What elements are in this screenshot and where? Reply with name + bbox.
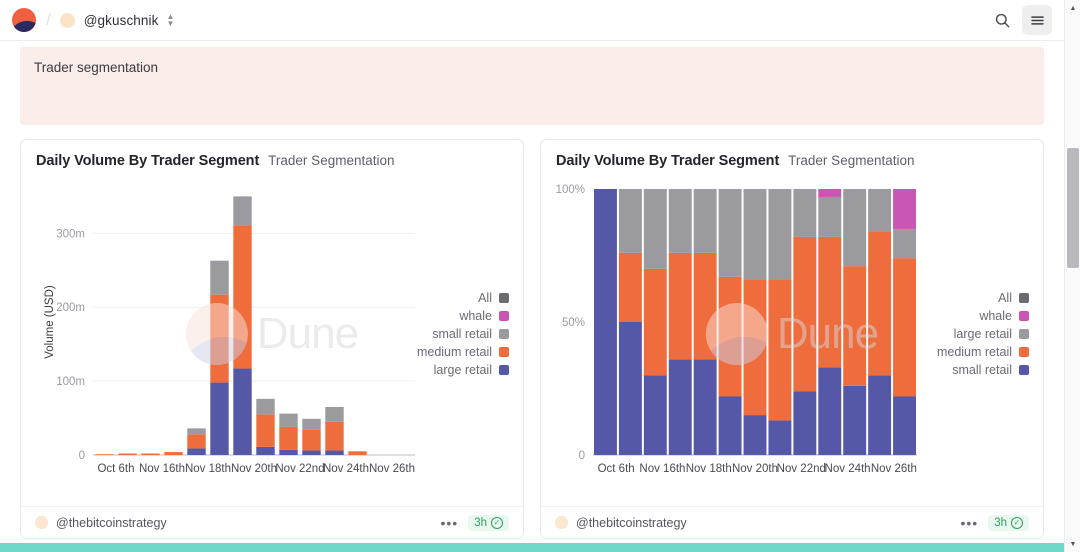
- author-avatar: [555, 516, 568, 529]
- plot-area-right[interactable]: Dune 050%100%Oct 6thNov 16thNov 18thNov …: [541, 175, 1043, 493]
- legend-label: small retail: [952, 363, 1012, 377]
- search-icon[interactable]: [987, 5, 1017, 35]
- chart-card-volume-absolute: Daily Volume By Trader Segment Trader Se…: [20, 139, 524, 539]
- legend-swatch: [1019, 347, 1029, 357]
- bar-segment[interactable]: [619, 253, 642, 322]
- author-handle[interactable]: @thebitcoinstrategy: [56, 516, 167, 530]
- y-axis-tick-label: 0: [579, 450, 585, 462]
- ellipsis-icon[interactable]: •••: [960, 519, 978, 527]
- dashboard-banner: Trader segmentation: [20, 47, 1044, 125]
- top-navigation-bar: / @gkuschnik ▲▼: [0, 0, 1064, 41]
- bottom-accent-strip: [0, 543, 1064, 552]
- bar-segment[interactable]: [325, 422, 343, 451]
- legend-swatch: [1019, 293, 1029, 303]
- bar-segment[interactable]: [348, 451, 366, 455]
- legend-swatch: [499, 293, 509, 303]
- bar-segment[interactable]: [768, 420, 791, 455]
- bar-segment[interactable]: [793, 391, 816, 455]
- legend-label: large retail: [954, 327, 1012, 341]
- bar-segment[interactable]: [744, 415, 767, 455]
- bar-segment[interactable]: [669, 189, 692, 253]
- legend-item[interactable]: All: [998, 291, 1029, 305]
- bar-segment[interactable]: [325, 451, 343, 455]
- legend-label: large retail: [434, 363, 492, 377]
- scroll-down-arrow[interactable]: ▼: [1065, 536, 1080, 552]
- chevron-up-down-icon[interactable]: ▲▼: [166, 14, 174, 27]
- legend-item[interactable]: small retail: [432, 327, 509, 341]
- bar-segment[interactable]: [302, 430, 320, 451]
- card-subtitle: Trader Segmentation: [268, 153, 394, 168]
- legend-label: All: [478, 291, 492, 305]
- bar-segment[interactable]: [694, 359, 717, 455]
- legend-item[interactable]: medium retail: [937, 345, 1029, 359]
- bar-segment[interactable]: [210, 295, 228, 383]
- bar-segment[interactable]: [141, 454, 159, 455]
- bar-segment[interactable]: [279, 427, 297, 450]
- bar-segment[interactable]: [164, 452, 182, 455]
- bar-segment[interactable]: [233, 196, 251, 225]
- legend-item[interactable]: All: [478, 291, 509, 305]
- plot-area-left[interactable]: Dune 0100m200m300mVolume (USD)Oct 6thNov…: [21, 175, 523, 493]
- legend-item[interactable]: whale: [979, 309, 1029, 323]
- card-title: Daily Volume By Trader Segment: [36, 153, 259, 169]
- app-root: / @gkuschnik ▲▼ Trader segmentation Dail…: [0, 0, 1080, 552]
- x-axis-tick-label: Nov 26th: [369, 463, 415, 475]
- bar-segment[interactable]: [843, 189, 866, 266]
- legend-swatch: [499, 365, 509, 375]
- bar-segment[interactable]: [868, 375, 891, 455]
- card-header: Daily Volume By Trader Segment Trader Se…: [21, 140, 523, 175]
- bar-segment[interactable]: [719, 396, 742, 455]
- bar-segment[interactable]: [818, 189, 841, 197]
- bar-segment[interactable]: [893, 258, 916, 396]
- legend-label: whale: [459, 309, 492, 323]
- hamburger-menu-icon[interactable]: [1022, 5, 1052, 35]
- bar-segment[interactable]: [95, 454, 113, 455]
- page-scrollbar[interactable]: ▲ ▼: [1064, 0, 1080, 552]
- bar-segment[interactable]: [793, 189, 816, 237]
- legend-label: small retail: [432, 327, 492, 341]
- y-axis-tick-label: 300m: [56, 228, 85, 240]
- y-axis-tick-label: 200m: [56, 302, 85, 314]
- bar-segment[interactable]: [669, 253, 692, 359]
- legend-item[interactable]: large retail: [434, 363, 509, 377]
- bar-segment[interactable]: [719, 277, 742, 397]
- bar-segment[interactable]: [694, 189, 717, 253]
- bar-segment[interactable]: [325, 407, 343, 422]
- bar-segment[interactable]: [818, 367, 841, 455]
- bar-segment[interactable]: [256, 399, 274, 415]
- card-footer: @thebitcoinstrategy ••• 3h ✓: [21, 506, 523, 538]
- y-axis-title: Volume (USD): [44, 285, 56, 359]
- x-axis-tick-label: Nov 24th: [323, 463, 369, 475]
- x-axis-tick-label: Nov 26th: [871, 463, 917, 475]
- workspace-avatar: [60, 13, 75, 28]
- card-header: Daily Volume By Trader Segment Trader Se…: [541, 140, 1043, 175]
- bar-segment[interactable]: [768, 279, 791, 420]
- legend-item[interactable]: small retail: [952, 363, 1029, 377]
- chart-legend-left[interactable]: Allwhalesmall retailmedium retaillarge r…: [417, 291, 509, 377]
- x-axis-tick-label: Nov 18th: [686, 463, 732, 475]
- workspace-name[interactable]: @gkuschnik: [84, 13, 159, 28]
- bar-segment[interactable]: [793, 237, 816, 391]
- bar-segment[interactable]: [644, 269, 667, 375]
- card-footer: @thebitcoinstrategy ••• 3h ✓: [541, 506, 1043, 538]
- bar-segment[interactable]: [302, 419, 320, 430]
- legend-swatch: [499, 329, 509, 339]
- x-axis-tick-label: Nov 16th: [139, 463, 185, 475]
- card-title: Daily Volume By Trader Segment: [556, 153, 779, 169]
- legend-label: medium retail: [937, 345, 1012, 359]
- bar-segment[interactable]: [768, 189, 791, 279]
- x-axis-tick-label: Nov 16th: [639, 463, 685, 475]
- bar-segment[interactable]: [210, 261, 228, 295]
- card-subtitle: Trader Segmentation: [788, 153, 914, 168]
- x-axis-tick-label: Nov 20th: [732, 463, 778, 475]
- bar-segment[interactable]: [256, 447, 274, 455]
- bar-segment[interactable]: [619, 189, 642, 253]
- x-axis-tick-label: Nov 20th: [231, 463, 277, 475]
- bar-segment[interactable]: [302, 451, 320, 455]
- scrollbar-thumb[interactable]: [1067, 148, 1079, 268]
- legend-item[interactable]: large retail: [954, 327, 1029, 341]
- bar-segment[interactable]: [187, 434, 205, 448]
- refresh-age-label: 3h: [474, 517, 487, 529]
- bar-segment[interactable]: [118, 454, 136, 455]
- bar-segment[interactable]: [187, 448, 205, 455]
- bar-segment[interactable]: [893, 189, 916, 229]
- legend-swatch: [1019, 365, 1029, 375]
- x-axis-tick-label: Nov 22nd: [777, 463, 826, 475]
- legend-item[interactable]: medium retail: [417, 345, 509, 359]
- author-handle[interactable]: @thebitcoinstrategy: [576, 516, 687, 530]
- bar-segment[interactable]: [843, 266, 866, 386]
- legend-swatch: [1019, 329, 1029, 339]
- bar-segment[interactable]: [694, 253, 717, 359]
- y-axis-tick-label: 100m: [56, 376, 85, 388]
- bar-segment[interactable]: [233, 225, 251, 368]
- bar-segment[interactable]: [279, 450, 297, 455]
- legend-swatch: [1019, 311, 1029, 321]
- bar-segment[interactable]: [843, 386, 866, 455]
- x-axis-tick-label: Nov 22nd: [275, 463, 324, 475]
- bar-segment[interactable]: [868, 189, 891, 232]
- bar-segment[interactable]: [744, 279, 767, 415]
- scroll-up-arrow[interactable]: ▲: [1065, 0, 1080, 16]
- chart-card-volume-percent: Daily Volume By Trader Segment Trader Se…: [540, 139, 1044, 539]
- ellipsis-icon[interactable]: •••: [440, 519, 458, 527]
- footer-actions: ••• 3h ✓: [960, 515, 1029, 531]
- bar-segment[interactable]: [719, 189, 742, 277]
- legend-label: medium retail: [417, 345, 492, 359]
- footer-actions: ••• 3h ✓: [440, 515, 509, 531]
- status-badge: 3h ✓: [468, 515, 509, 531]
- y-axis-tick-label: 50%: [562, 317, 585, 329]
- y-axis-tick-label: 100%: [556, 184, 585, 196]
- y-axis-tick-label: 0: [79, 450, 85, 462]
- refresh-age-label: 3h: [994, 517, 1007, 529]
- x-axis-tick-label: Nov 18th: [185, 463, 231, 475]
- bar-segment[interactable]: [256, 414, 274, 447]
- author-avatar: [35, 516, 48, 529]
- bar-segment[interactable]: [594, 189, 617, 455]
- legend-label: whale: [979, 309, 1012, 323]
- bar-segment[interactable]: [893, 229, 916, 258]
- bar-segment[interactable]: [233, 369, 251, 455]
- bar-segment[interactable]: [644, 189, 667, 269]
- topbar-actions: [987, 5, 1052, 35]
- legend-item[interactable]: whale: [459, 309, 509, 323]
- x-axis-tick-label: Oct 6th: [598, 463, 635, 475]
- bar-segment[interactable]: [868, 232, 891, 376]
- status-badge: 3h ✓: [988, 515, 1029, 531]
- dashboard-title: Trader segmentation: [34, 60, 1030, 75]
- check-circle-icon: ✓: [491, 517, 503, 529]
- dune-logo-icon[interactable]: [12, 8, 36, 32]
- bar-segment[interactable]: [644, 375, 667, 455]
- bar-segment[interactable]: [187, 428, 205, 434]
- x-axis-tick-label: Nov 24th: [825, 463, 871, 475]
- legend-swatch: [499, 347, 509, 357]
- bar-segment[interactable]: [669, 359, 692, 455]
- chart-legend-right[interactable]: Allwhalelarge retailmedium retailsmall r…: [937, 291, 1029, 377]
- bar-segment[interactable]: [279, 414, 297, 427]
- bar-segment[interactable]: [893, 396, 916, 455]
- legend-swatch: [499, 311, 509, 321]
- bar-segment[interactable]: [619, 322, 642, 455]
- legend-label: All: [998, 291, 1012, 305]
- bar-segment[interactable]: [818, 197, 841, 237]
- x-axis-tick-label: Oct 6th: [97, 463, 134, 475]
- check-circle-icon: ✓: [1011, 517, 1023, 529]
- breadcrumb-separator: /: [46, 10, 51, 30]
- bar-segment[interactable]: [210, 383, 228, 455]
- bar-segment[interactable]: [818, 237, 841, 367]
- bar-segment[interactable]: [744, 189, 767, 279]
